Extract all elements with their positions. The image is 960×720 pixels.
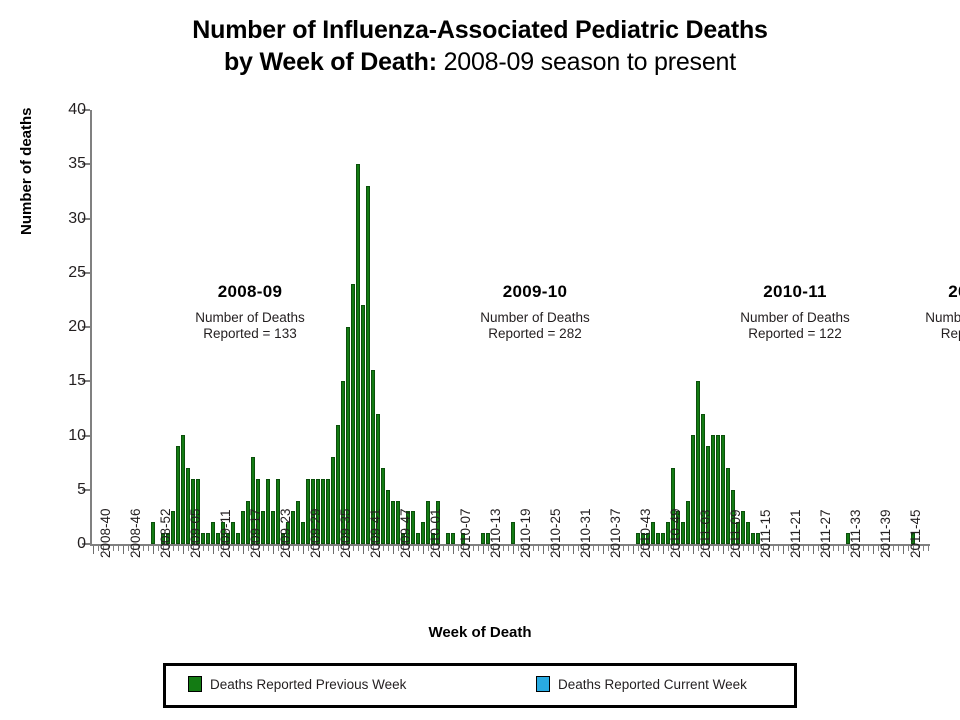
bar <box>661 533 665 544</box>
x-tick-major <box>903 546 904 554</box>
x-tick-label: 2010-49 <box>668 508 683 558</box>
title-line-2-bold: by Week of Death: <box>224 48 437 76</box>
x-tick-label: 2011-33 <box>848 509 863 558</box>
season-label: 2010-11 <box>695 282 895 302</box>
x-tick-minor <box>623 546 624 551</box>
title-line-1: Number of Influenza-Associated Pediatric… <box>0 14 960 46</box>
season-annotation: 2008-09Number of DeathsReported = 133 <box>150 282 350 343</box>
x-tick-minor <box>538 546 539 551</box>
chart-title: Number of Influenza-Associated Pediatric… <box>0 14 960 78</box>
x-tick-minor <box>508 546 509 551</box>
x-tick-minor <box>838 546 839 551</box>
x-tick-minor <box>533 546 534 551</box>
x-tick-major <box>93 546 94 554</box>
x-tick-major <box>723 546 724 554</box>
title-line-2: by Week of Death: 2008-09 season to pres… <box>0 46 960 78</box>
x-tick-minor <box>293 546 294 551</box>
x-tick-minor <box>418 546 419 551</box>
x-tick-minor <box>863 546 864 551</box>
bar <box>386 490 390 544</box>
bar <box>296 501 300 544</box>
x-tick-minor <box>328 546 329 551</box>
x-tick-label: 2011-09 <box>728 509 743 558</box>
x-tick-major <box>273 546 274 554</box>
x-tick-label: 2010-07 <box>458 508 473 558</box>
x-tick-minor <box>683 546 684 551</box>
x-tick-minor <box>833 546 834 551</box>
x-tick-minor <box>443 546 444 551</box>
x-tick-minor <box>358 546 359 551</box>
season-death-count: Number of DeathsReported = 1 <box>880 310 960 343</box>
bar <box>421 522 425 544</box>
bar <box>751 533 755 544</box>
bar <box>746 522 750 544</box>
y-tick-label: 20 <box>46 319 86 335</box>
x-tick-major <box>663 546 664 554</box>
x-tick-minor <box>808 546 809 551</box>
season-count-line-1: Number of Deaths <box>880 310 960 326</box>
bar <box>331 457 335 544</box>
x-axis-title: Week of Death <box>0 624 960 641</box>
season-count-line-2: Reported = 282 <box>435 326 635 342</box>
x-tick-minor <box>653 546 654 551</box>
x-tick-major <box>753 546 754 554</box>
bar <box>721 435 725 544</box>
y-tick-label: 10 <box>46 428 86 444</box>
x-tick-label: 2009-11 <box>218 509 233 558</box>
x-tick-major <box>153 546 154 554</box>
x-tick-major <box>183 546 184 554</box>
x-tick-major <box>243 546 244 554</box>
x-tick-minor <box>448 546 449 551</box>
bar <box>656 533 660 544</box>
x-tick-minor <box>233 546 234 551</box>
bar <box>691 435 695 544</box>
legend-label: Deaths Reported Current Week <box>558 677 747 692</box>
bar <box>301 522 305 544</box>
x-tick-label: 2010-01 <box>428 508 443 558</box>
bar <box>451 533 455 544</box>
x-tick-major <box>873 546 874 554</box>
x-tick-minor <box>893 546 894 551</box>
x-tick-minor <box>868 546 869 551</box>
y-tick-label: 35 <box>46 156 86 172</box>
season-count-line-1: Number of Deaths <box>695 310 895 326</box>
title-line-2-rest: 2008-09 season to present <box>437 48 736 76</box>
x-tick-major <box>603 546 604 554</box>
bar <box>481 533 485 544</box>
x-tick-minor <box>268 546 269 551</box>
x-tick-major <box>783 546 784 554</box>
x-tick-minor <box>208 546 209 551</box>
x-tick-label: 2009-17 <box>248 508 263 558</box>
y-tick-label: 5 <box>46 482 86 498</box>
x-tick-minor <box>173 546 174 551</box>
bar <box>176 446 180 544</box>
x-tick-minor <box>713 546 714 551</box>
bar <box>686 501 690 544</box>
y-tick-label: 15 <box>46 373 86 389</box>
x-tick-minor <box>203 546 204 551</box>
x-tick-major <box>813 546 814 554</box>
x-tick-minor <box>773 546 774 551</box>
bar <box>181 435 185 544</box>
x-tick-minor <box>298 546 299 551</box>
x-tick-minor <box>473 546 474 551</box>
bar <box>356 164 360 544</box>
x-tick-minor <box>178 546 179 551</box>
y-axis-title: Number of deaths <box>18 107 35 235</box>
season-label: 2011-12 <box>880 282 960 302</box>
legend-item[interactable]: Deaths Reported Previous Week <box>188 676 406 692</box>
y-tick-label: 0 <box>46 536 86 552</box>
x-tick-label: 2008-52 <box>158 508 173 558</box>
season-death-count: Number of DeathsReported = 282 <box>435 310 635 343</box>
season-death-count: Number of DeathsReported = 122 <box>695 310 895 343</box>
x-tick-minor <box>658 546 659 551</box>
x-tick-minor <box>113 546 114 551</box>
x-tick-minor <box>748 546 749 551</box>
season-count-line-2: Reported = 1 <box>880 326 960 342</box>
x-tick-minor <box>688 546 689 551</box>
x-tick-major <box>423 546 424 554</box>
bar <box>391 501 395 544</box>
bar <box>351 284 355 544</box>
x-tick-label: 2010-43 <box>638 508 653 558</box>
bar <box>366 186 370 544</box>
x-tick-major <box>693 546 694 554</box>
y-tick-label: 40 <box>46 102 86 118</box>
x-tick-minor <box>503 546 504 551</box>
x-tick-minor <box>718 546 719 551</box>
x-tick-label: 2008-40 <box>98 508 113 558</box>
x-tick-label: 2009-47 <box>398 508 413 558</box>
x-tick-minor <box>353 546 354 551</box>
x-tick-major <box>123 546 124 554</box>
bar <box>236 533 240 544</box>
bar <box>271 511 275 544</box>
legend-swatch-icon <box>536 676 550 692</box>
x-tick-label: 2011-45 <box>908 509 923 558</box>
bar <box>361 305 365 544</box>
x-tick-minor <box>388 546 389 551</box>
bar <box>326 479 330 544</box>
x-tick-major <box>543 546 544 554</box>
bar <box>716 435 720 544</box>
x-tick-minor <box>323 546 324 551</box>
x-tick-major <box>843 546 844 554</box>
y-axis-line <box>90 110 92 546</box>
x-tick-minor <box>743 546 744 551</box>
x-tick-label: 2009-35 <box>338 508 353 558</box>
x-tick-label: 2011-03 <box>698 509 713 558</box>
legend-item[interactable]: Deaths Reported Current Week <box>536 676 747 692</box>
season-annotation: 2011-12Number of DeathsReported = 1 <box>880 282 960 343</box>
x-tick-major <box>513 546 514 554</box>
x-tick-label: 2011-27 <box>818 509 833 558</box>
x-tick-major <box>363 546 364 554</box>
season-label: 2009-10 <box>435 282 635 302</box>
x-tick-minor <box>143 546 144 551</box>
x-axis-line <box>90 544 930 546</box>
x-tick-label: 2010-19 <box>518 508 533 558</box>
x-tick-label: 2011-21 <box>788 509 803 558</box>
x-tick-minor <box>803 546 804 551</box>
bar <box>211 522 215 544</box>
plot-area: 0510152025303540 2008-09Number of Deaths… <box>90 110 930 546</box>
x-tick-label: 2009-29 <box>308 508 323 558</box>
x-tick-minor <box>238 546 239 551</box>
x-tick-label: 2009-05 <box>188 508 203 558</box>
x-tick-label: 2009-23 <box>278 508 293 558</box>
x-tick-labels: 2008-402008-462008-522009-052009-112009-… <box>90 558 930 658</box>
x-tick-minor <box>778 546 779 551</box>
chart-legend: Deaths Reported Previous WeekDeaths Repo… <box>163 663 797 708</box>
x-tick-major <box>483 546 484 554</box>
season-label: 2008-09 <box>150 282 350 302</box>
x-tick-major <box>573 546 574 554</box>
x-tick-major <box>303 546 304 554</box>
season-count-line-1: Number of Deaths <box>435 310 635 326</box>
bar <box>241 511 245 544</box>
x-tick-major <box>333 546 334 554</box>
bar <box>511 522 515 544</box>
x-tick-minor <box>568 546 569 551</box>
x-tick-label: 2010-25 <box>548 508 563 558</box>
x-tick-minor <box>413 546 414 551</box>
bar <box>206 533 210 544</box>
x-tick-major <box>453 546 454 554</box>
x-tick-minor <box>923 546 924 551</box>
x-tick-minor <box>563 546 564 551</box>
season-count-line-1: Number of Deaths <box>150 310 350 326</box>
bar <box>266 479 270 544</box>
x-tick-label: 2009-41 <box>368 508 383 558</box>
season-annotation: 2010-11Number of DeathsReported = 122 <box>695 282 895 343</box>
x-tick-major <box>213 546 214 554</box>
season-count-line-2: Reported = 122 <box>695 326 895 342</box>
x-tick-major <box>633 546 634 554</box>
x-tick-minor <box>478 546 479 551</box>
x-tick-minor <box>593 546 594 551</box>
x-tick-minor <box>898 546 899 551</box>
x-tick-minor <box>928 546 929 551</box>
x-tick-minor <box>263 546 264 551</box>
legend-swatch-icon <box>188 676 202 692</box>
y-tick-label: 25 <box>46 265 86 281</box>
x-tick-minor <box>148 546 149 551</box>
x-tick-minor <box>383 546 384 551</box>
y-tick-label: 30 <box>46 211 86 227</box>
bar <box>446 533 450 544</box>
x-tick-minor <box>118 546 119 551</box>
x-tick-label: 2010-13 <box>488 508 503 558</box>
season-count-line-2: Reported = 133 <box>150 326 350 342</box>
legend-label: Deaths Reported Previous Week <box>210 677 406 692</box>
bar <box>416 533 420 544</box>
season-death-count: Number of DeathsReported = 133 <box>150 310 350 343</box>
x-tick-major <box>393 546 394 554</box>
x-tick-minor <box>598 546 599 551</box>
x-tick-label: 2010-37 <box>608 508 623 558</box>
bar <box>151 522 155 544</box>
x-tick-label: 2011-39 <box>878 509 893 558</box>
x-tick-label: 2008-46 <box>128 508 143 558</box>
x-tick-label: 2010-31 <box>578 508 593 558</box>
season-annotation: 2009-10Number of DeathsReported = 282 <box>435 282 635 343</box>
x-tick-minor <box>628 546 629 551</box>
x-tick-label: 2011-15 <box>758 509 773 558</box>
